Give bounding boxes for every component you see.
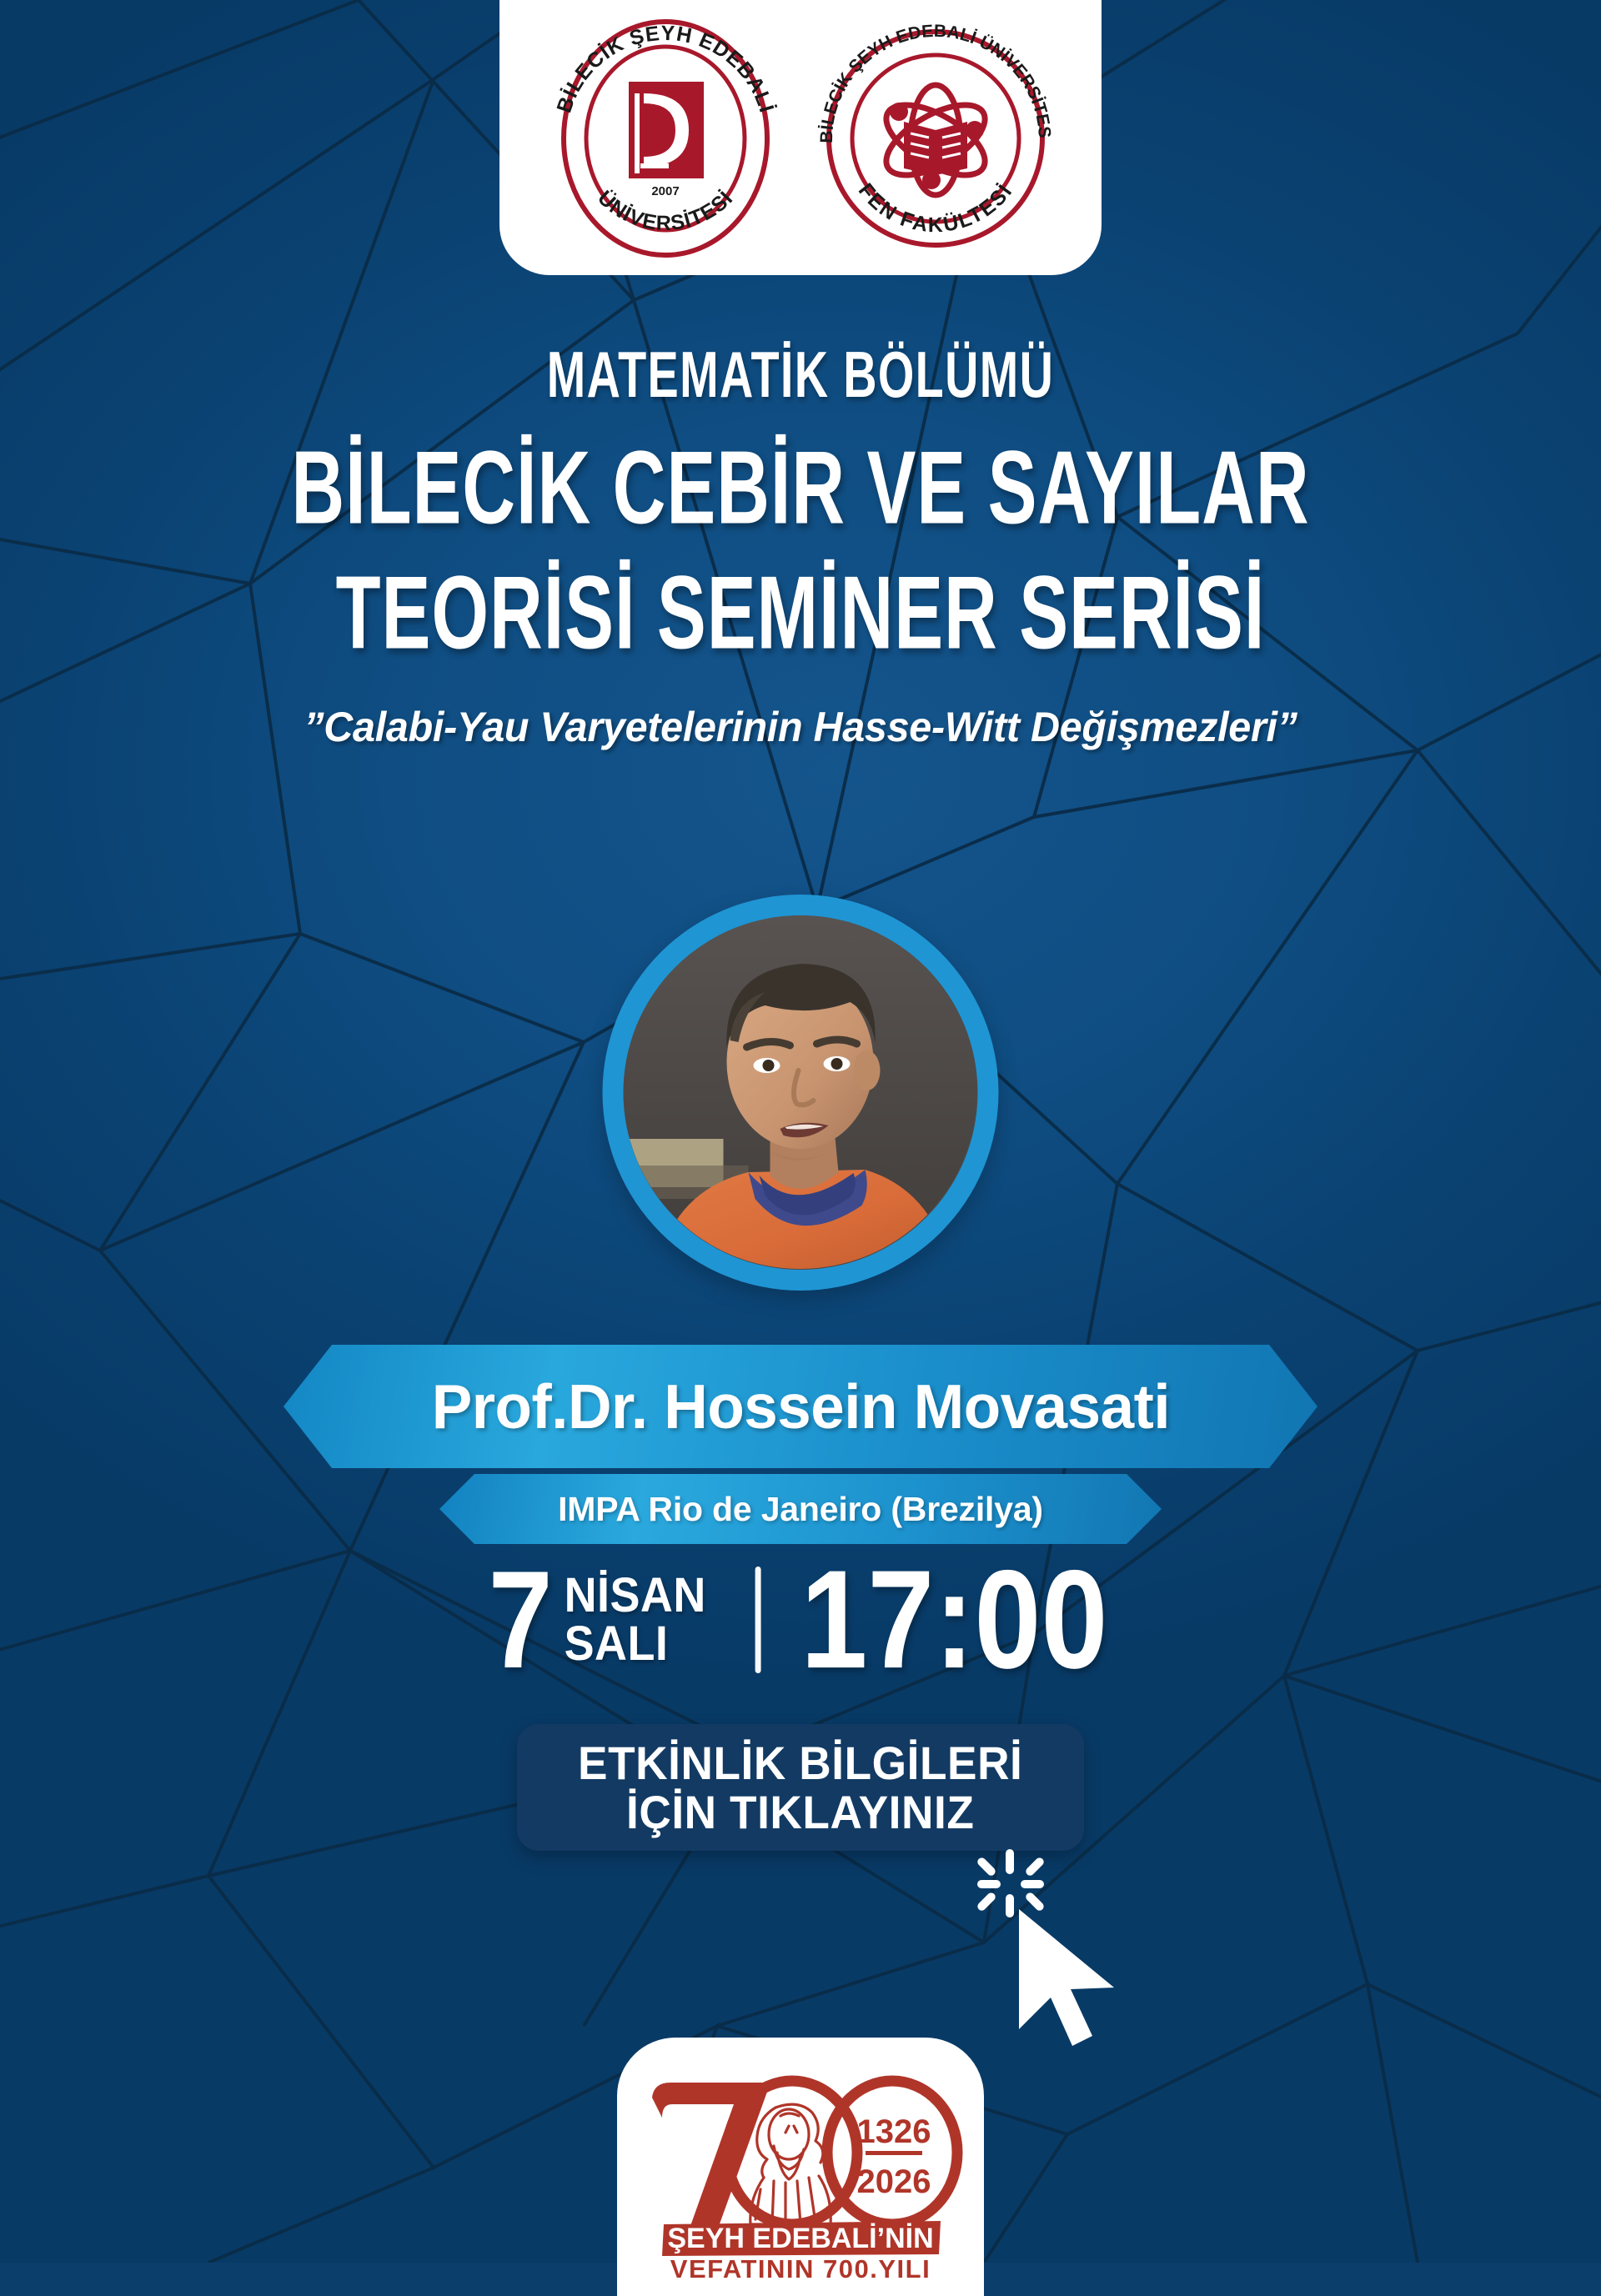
event-details-cta-button[interactable]: ETKİNLİK BİLGİLERİ İÇİN TIKLAYINIZ	[517, 1724, 1084, 1851]
cta-line-2: İÇİN TIKLAYINIZ	[626, 1787, 974, 1837]
svg-text:2007: 2007	[651, 184, 679, 198]
cta-line-1: ETKİNLİK BİLGİLERİ	[578, 1738, 1022, 1787]
speaker-affiliation-banner: IMPA Rio de Janeiro (Brezilya)	[439, 1474, 1162, 1544]
speaker-affiliation: IMPA Rio de Janeiro (Brezilya)	[558, 1490, 1043, 1529]
event-day-number: 7	[489, 1557, 553, 1682]
anniversary-year-from: 1326	[857, 2113, 931, 2150]
speaker-photo-ring	[603, 895, 999, 1291]
speaker-photo	[624, 915, 978, 1270]
fen-fakultesi-seal: BİLECİK ŞEYH EDEBALİ ÜNİVERSİTESİ FEN FA…	[811, 13, 1061, 263]
anniversary-sub-text: VEFATININ 700.YILI	[670, 2254, 931, 2279]
department-kicker: MATEMATİK BÖLÜMÜ	[80, 343, 1521, 409]
anniversary-logo-plate: 1326 2026 ŞEYH EDEBALİ’NİN VEFATININ 700…	[617, 2038, 984, 2296]
speaker-name-banner: Prof.Dr. Hossein Movasati	[284, 1345, 1317, 1468]
heading-block: MATEMATİK BÖLÜMÜ BİLECİK CEBİR VE SAYILA…	[0, 350, 1601, 751]
event-datetime: 7 NİSAN SALI 17:00	[487, 1563, 1115, 1676]
datetime-divider	[755, 1567, 761, 1673]
talk-subtitle: ”Calabi-Yau Varyetelerinin Hasse-Witt De…	[24, 703, 1577, 751]
event-time: 17:00	[800, 1557, 1107, 1682]
anniversary-year-to: 2026	[857, 2163, 931, 2200]
event-day-words: NİSAN SALI	[565, 1572, 717, 1667]
speaker-portrait-illustration	[624, 915, 978, 1270]
speaker-name: Prof.Dr. Hossein Movasati	[431, 1371, 1169, 1442]
university-logo-plate: BİLECİK ŞEYH EDEBALİ ÜNİVERSİTESİ 2007 B…	[499, 0, 1102, 275]
bilecik-seyh-edebali-universitesi-seal: BİLECİK ŞEYH EDEBALİ ÜNİVERSİTESİ 2007	[540, 13, 790, 263]
seminar-title-line2: TEORİSİ SEMİNER SERİSİ	[64, 557, 1537, 669]
mouse-pointer-click-icon	[959, 1849, 1134, 2058]
seyh-edebali-700-anniversary-logo: 1326 2026 ŞEYH EDEBALİ’NİN VEFATININ 700…	[634, 2053, 967, 2279]
event-month: NİSAN	[565, 1572, 706, 1619]
anniversary-ribbon-text: ŞEYH EDEBALİ’NİN	[667, 2223, 933, 2254]
event-weekday: SALI	[565, 1620, 706, 1667]
seminar-title-line1: BİLECİK CEBİR VE SAYILAR	[64, 432, 1537, 544]
